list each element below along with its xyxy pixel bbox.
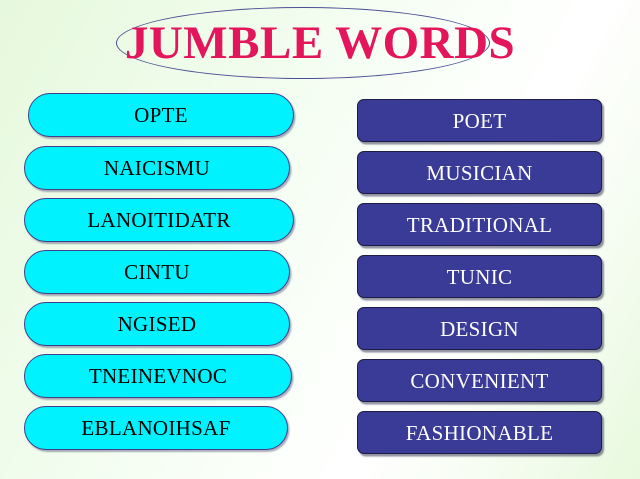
answer-word-item[interactable]: MUSICIAN xyxy=(357,151,602,194)
answer-word-label: DESIGN xyxy=(440,318,519,340)
slide-canvas: JUMBLE WORDS OPTE NAICISMU LANOITIDATR C… xyxy=(0,0,640,479)
answer-word-label: CONVENIENT xyxy=(410,370,548,392)
page-title: JUMBLE WORDS xyxy=(0,15,640,71)
jumbled-word-item[interactable]: EBLANOIHSAF xyxy=(24,406,288,450)
answer-word-item[interactable]: TUNIC xyxy=(357,255,602,298)
jumbled-word-item[interactable]: CINTU xyxy=(24,250,290,294)
answer-word-item[interactable]: POET xyxy=(357,99,602,142)
jumbled-word-label: EBLANOIHSAF xyxy=(81,417,230,439)
answer-word-label: POET xyxy=(453,110,507,132)
answer-words-column: POET MUSICIAN TRADITIONAL TUNIC DESIGN C… xyxy=(350,99,640,469)
answer-word-label: MUSICIAN xyxy=(426,162,532,184)
title-area: JUMBLE WORDS xyxy=(0,0,640,88)
answer-word-label: FASHIONABLE xyxy=(406,422,554,444)
jumbled-word-label: NGISED xyxy=(118,313,197,335)
jumbled-word-item[interactable]: TNEINEVNOC xyxy=(24,354,292,398)
jumbled-words-column: OPTE NAICISMU LANOITIDATR CINTU NGISED T… xyxy=(0,92,310,462)
jumbled-word-label: CINTU xyxy=(124,261,190,283)
jumbled-word-label: TNEINEVNOC xyxy=(89,365,227,387)
jumbled-word-item[interactable]: NAICISMU xyxy=(24,146,290,190)
jumbled-word-label: NAICISMU xyxy=(104,157,210,179)
jumbled-word-item[interactable]: LANOITIDATR xyxy=(24,198,294,242)
jumbled-word-item[interactable]: NGISED xyxy=(24,302,290,346)
jumbled-word-label: OPTE xyxy=(134,104,188,126)
answer-word-item[interactable]: CONVENIENT xyxy=(357,359,602,402)
jumbled-word-item[interactable]: OPTE xyxy=(28,93,294,137)
answer-word-item[interactable]: FASHIONABLE xyxy=(357,411,602,454)
answer-word-item[interactable]: TRADITIONAL xyxy=(357,203,602,246)
answer-word-label: TUNIC xyxy=(447,266,513,288)
jumbled-word-label: LANOITIDATR xyxy=(87,209,230,231)
answer-word-label: TRADITIONAL xyxy=(407,214,553,236)
answer-word-item[interactable]: DESIGN xyxy=(357,307,602,350)
